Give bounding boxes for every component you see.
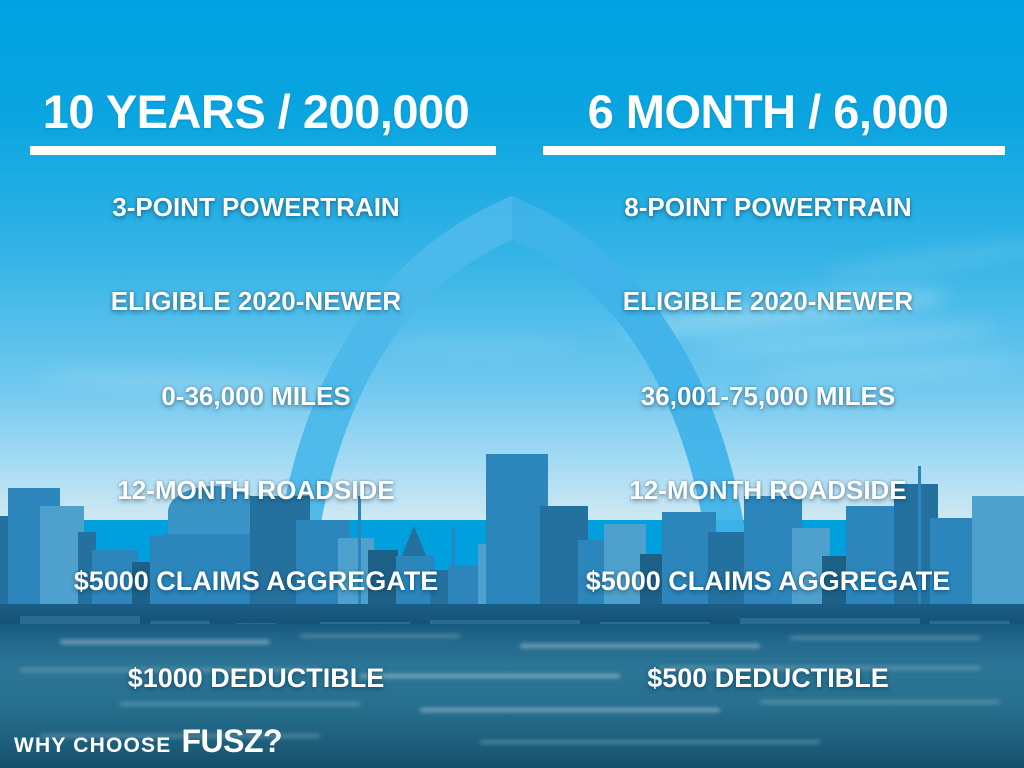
plan-heading-six-month: 6 MONTH / 6,000 bbox=[512, 88, 1024, 135]
comparison-content: 10 YEARS / 200,000 3-POINT POWERTRAIN EL… bbox=[0, 0, 1024, 768]
plan-column-six-month: 6 MONTH / 6,000 8-POINT POWERTRAIN ELIGI… bbox=[512, 0, 1024, 768]
heading-underline bbox=[543, 146, 1005, 155]
plan-heading-ten-year: 10 YEARS / 200,000 bbox=[0, 88, 512, 135]
feature-item: 8-POINT POWERTRAIN bbox=[512, 194, 1024, 220]
brand-lockup: WHY CHOOSE FUSZ? bbox=[14, 723, 282, 760]
brand-why-choose-label: WHY CHOOSE bbox=[14, 734, 171, 758]
feature-item: ELIGIBLE 2020-NEWER bbox=[512, 288, 1024, 314]
feature-item: $5000 CLAIMS AGGREGATE bbox=[512, 568, 1024, 595]
heading-underline bbox=[30, 146, 496, 155]
feature-item: 36,001-75,000 MILES bbox=[512, 383, 1024, 409]
feature-item: 0-36,000 MILES bbox=[0, 383, 512, 409]
slide-canvas: 10 YEARS / 200,000 3-POINT POWERTRAIN EL… bbox=[0, 0, 1024, 768]
feature-item: $1000 DEDUCTIBLE bbox=[0, 665, 512, 692]
plan-column-ten-year: 10 YEARS / 200,000 3-POINT POWERTRAIN EL… bbox=[0, 0, 512, 768]
feature-item: 12-MONTH ROADSIDE bbox=[0, 477, 512, 503]
feature-item: ELIGIBLE 2020-NEWER bbox=[0, 288, 512, 314]
feature-item: $5000 CLAIMS AGGREGATE bbox=[0, 568, 512, 595]
feature-item: 3-POINT POWERTRAIN bbox=[0, 194, 512, 220]
brand-name-fusz: FUSZ? bbox=[181, 723, 282, 760]
feature-item: 12-MONTH ROADSIDE bbox=[512, 477, 1024, 503]
feature-item: $500 DEDUCTIBLE bbox=[512, 665, 1024, 692]
